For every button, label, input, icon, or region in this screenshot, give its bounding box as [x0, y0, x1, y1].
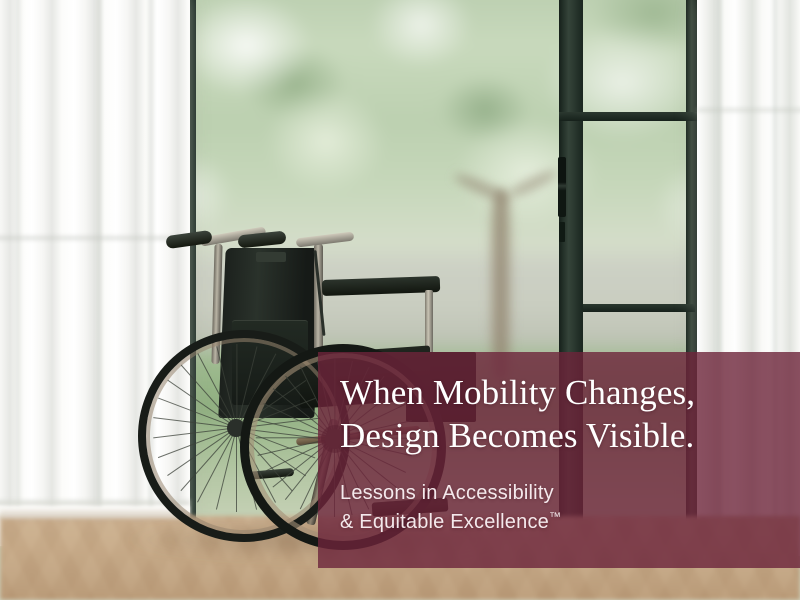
wheelchair-push-grip-left	[165, 230, 212, 249]
wheelchair-armrest	[322, 276, 440, 296]
subhead-line-1: Lessons in Accessibility	[340, 479, 774, 508]
poster-canvas: When Mobility Changes, Design Becomes Vi…	[0, 0, 800, 600]
page-subtitle: Lessons in Accessibility & Equitable Exc…	[340, 479, 774, 537]
subhead-line-2-text: & Equitable Excellence	[340, 511, 549, 533]
wheelchair-push-handle-bar-right	[296, 231, 355, 247]
wheelchair-back-strap	[256, 252, 286, 262]
wheel-spoke	[236, 344, 237, 428]
trademark-symbol: ™	[549, 510, 561, 524]
page-title: When Mobility Changes, Design Becomes Vi…	[340, 372, 774, 457]
headline-line-1: When Mobility Changes,	[340, 372, 774, 415]
subhead-line-2: & Equitable Excellence™	[340, 508, 774, 537]
headline-line-2: Design Becomes Visible.	[340, 415, 774, 458]
overlay-content: When Mobility Changes, Design Becomes Vi…	[318, 352, 800, 568]
wheel-spoke	[236, 428, 237, 512]
